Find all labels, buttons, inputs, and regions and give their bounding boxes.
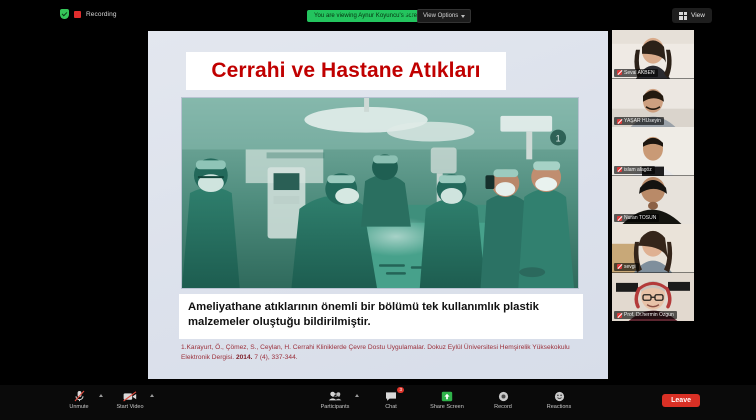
participant-tile[interactable]: islam alagöz [612, 127, 694, 176]
reactions-icon [554, 390, 565, 402]
participant-tile[interactable]: sevgi [612, 224, 694, 273]
toolbar-center-group: 150 Participants 3 Chat Share Screen [318, 390, 576, 410]
participant-name: YAŞAR HÜseyin [624, 118, 661, 124]
participants-button[interactable]: 150 Participants [318, 390, 352, 410]
participant-nameplate: islam alagöz [614, 166, 655, 174]
mic-muted-icon [617, 119, 622, 124]
chat-label: Chat [385, 404, 397, 410]
view-layout-button[interactable]: View [672, 8, 712, 23]
toolbar-left-group: Unmute Start Video [62, 390, 147, 410]
record-icon [498, 390, 509, 402]
slide-body-text: Ameliyathane atıklarının önemli bir bölü… [188, 300, 574, 331]
chevron-up-icon[interactable] [355, 394, 359, 397]
chevron-up-icon[interactable] [99, 394, 103, 397]
participant-name: islam alagöz [624, 167, 652, 173]
surgery-scene-illustration: 1 [182, 98, 578, 288]
participant-tile[interactable]: YAŞAR HÜseyin [612, 79, 694, 128]
participants-icon: 150 [328, 390, 342, 402]
slide-title-box: Cerrahi ve Hastane Atıkları [186, 52, 506, 90]
share-screen-button[interactable]: Share Screen [430, 390, 464, 410]
participant-name: sevgi [624, 264, 636, 270]
citation-year: 2014. [236, 354, 253, 361]
chat-unread-badge: 3 [397, 387, 404, 393]
mic-muted-icon [617, 70, 622, 75]
participant-tile[interactable]: Nuran TOSUN [612, 176, 694, 225]
leave-meeting-button[interactable]: Leave [662, 394, 700, 407]
share-screen-label: Share Screen [430, 404, 464, 410]
microphone-muted-icon [74, 390, 85, 402]
share-screen-icon [441, 390, 453, 402]
mic-muted-icon [617, 264, 622, 269]
participants-count: 150 [332, 393, 340, 399]
participant-name: Seval AKBEN [624, 70, 655, 76]
mic-muted-icon [617, 313, 622, 318]
meeting-toolbar: Unmute Start Video 150 [0, 385, 756, 420]
reactions-button[interactable]: Reactions [542, 390, 576, 410]
chevron-up-icon[interactable] [150, 394, 154, 397]
grid-view-icon [679, 12, 687, 20]
participant-name: Prof. Dr.hermin Ozgun [624, 312, 674, 318]
slide-body-box: Ameliyathane atıklarının önemli bir bölü… [179, 294, 583, 339]
citation-suffix: 7 (4), 337-344. [252, 354, 297, 361]
participant-filmstrip[interactable]: Seval AKBEN YAŞAR HÜseyin islam alagöz [612, 30, 694, 322]
record-label: Record [494, 404, 512, 410]
slide-citation: 1.Karayurt, Ö., Çömez, S., Ceylan, H. Ce… [181, 343, 581, 363]
participant-nameplate: YAŞAR HÜseyin [614, 117, 664, 125]
start-video-label: Start Video [116, 404, 143, 410]
shield-icon[interactable] [60, 9, 69, 19]
meeting-top-bar: Recording You are viewing Aynur Koyuncu'… [0, 0, 756, 28]
shared-screen-stage: Cerrahi ve Hastane Atıkları [0, 28, 608, 385]
view-button-label: View [691, 12, 705, 19]
slide-title: Cerrahi ve Hastane Atıkları [211, 59, 480, 83]
operating-room-photo: 1 [181, 97, 579, 289]
participant-tile[interactable]: Seval AKBEN [612, 30, 694, 79]
share-cloud-icon [403, 11, 414, 20]
view-options-label: View Options [423, 13, 458, 19]
participant-nameplate: sevgi [614, 263, 639, 271]
unmute-button[interactable]: Unmute [62, 390, 96, 410]
participant-nameplate: Seval AKBEN [614, 69, 658, 77]
participant-tile-active-speaker[interactable]: Prof. Dr.hermin Ozgun [612, 273, 694, 322]
chevron-down-icon [461, 15, 465, 18]
mic-muted-icon [617, 216, 622, 221]
unmute-label: Unmute [69, 404, 88, 410]
start-video-button[interactable]: Start Video [113, 390, 147, 410]
participant-nameplate: Prof. Dr.hermin Ozgun [614, 311, 677, 319]
camera-off-icon [123, 390, 137, 402]
participant-name: Nuran TOSUN [624, 215, 656, 221]
recording-status-group: Recording [60, 9, 117, 19]
recording-label: Recording [86, 11, 117, 18]
view-options-button[interactable]: View Options [417, 9, 471, 23]
chat-icon [385, 390, 397, 402]
presentation-slide: Cerrahi ve Hastane Atıkları [148, 31, 608, 379]
reactions-label: Reactions [547, 404, 571, 410]
participants-label: Participants [321, 404, 350, 410]
svg-text:1: 1 [556, 134, 561, 144]
record-button[interactable]: Record [486, 390, 520, 410]
participant-nameplate: Nuran TOSUN [614, 214, 659, 222]
mic-muted-icon [617, 167, 622, 172]
record-indicator-icon [74, 11, 81, 18]
chat-button[interactable]: 3 Chat [374, 390, 408, 410]
